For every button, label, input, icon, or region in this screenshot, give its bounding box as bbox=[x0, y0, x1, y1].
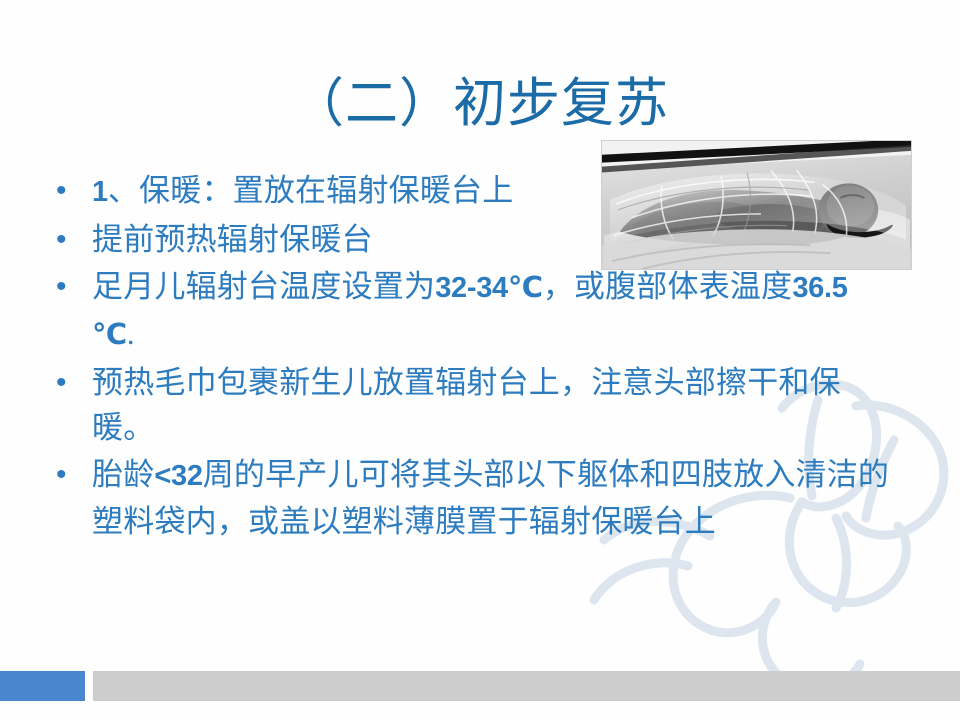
list-item: • 胎龄<32周的早产儿可将其头部以下躯体和四肢放入清洁的塑料袋内，或盖以塑料薄… bbox=[44, 452, 924, 544]
bullet-dot-icon: • bbox=[44, 217, 92, 262]
footer-accent-block bbox=[0, 671, 85, 701]
bullet-text-1: 1、保暖：置放在辐射保暖台上 bbox=[92, 168, 612, 215]
bullet-dot-icon: • bbox=[44, 360, 92, 405]
slide-title: （二）初步复苏 bbox=[0, 74, 960, 134]
bullet-text-5: 胎龄<32周的早产儿可将其头部以下躯体和四肢放入清洁的塑料袋内，或盖以塑料薄膜置… bbox=[92, 452, 892, 544]
list-item: • 足月儿辐射台温度设置为32-34℃，或腹部体表温度36.5 ℃. bbox=[44, 264, 924, 358]
list-item: • 预热毛巾包裹新生儿放置辐射台上，注意头部擦干和保暖。 bbox=[44, 360, 924, 450]
footer-bar bbox=[93, 671, 960, 701]
bullet-dot-icon: • bbox=[44, 452, 92, 497]
bullet-text-4: 预热毛巾包裹新生儿放置辐射台上，注意头部擦干和保暖。 bbox=[92, 360, 892, 450]
neonate-plastic-bag-photo bbox=[601, 140, 912, 270]
bullet-dot-icon: • bbox=[44, 264, 92, 309]
bullet-dot-icon: • bbox=[44, 168, 92, 213]
bullet-text-2: 提前预热辐射保暖台 bbox=[92, 217, 612, 262]
bullet-text-3: 足月儿辐射台温度设置为32-34℃，或腹部体表温度36.5 ℃. bbox=[92, 264, 892, 358]
slide-canvas: （二）初步复苏 bbox=[0, 0, 960, 720]
